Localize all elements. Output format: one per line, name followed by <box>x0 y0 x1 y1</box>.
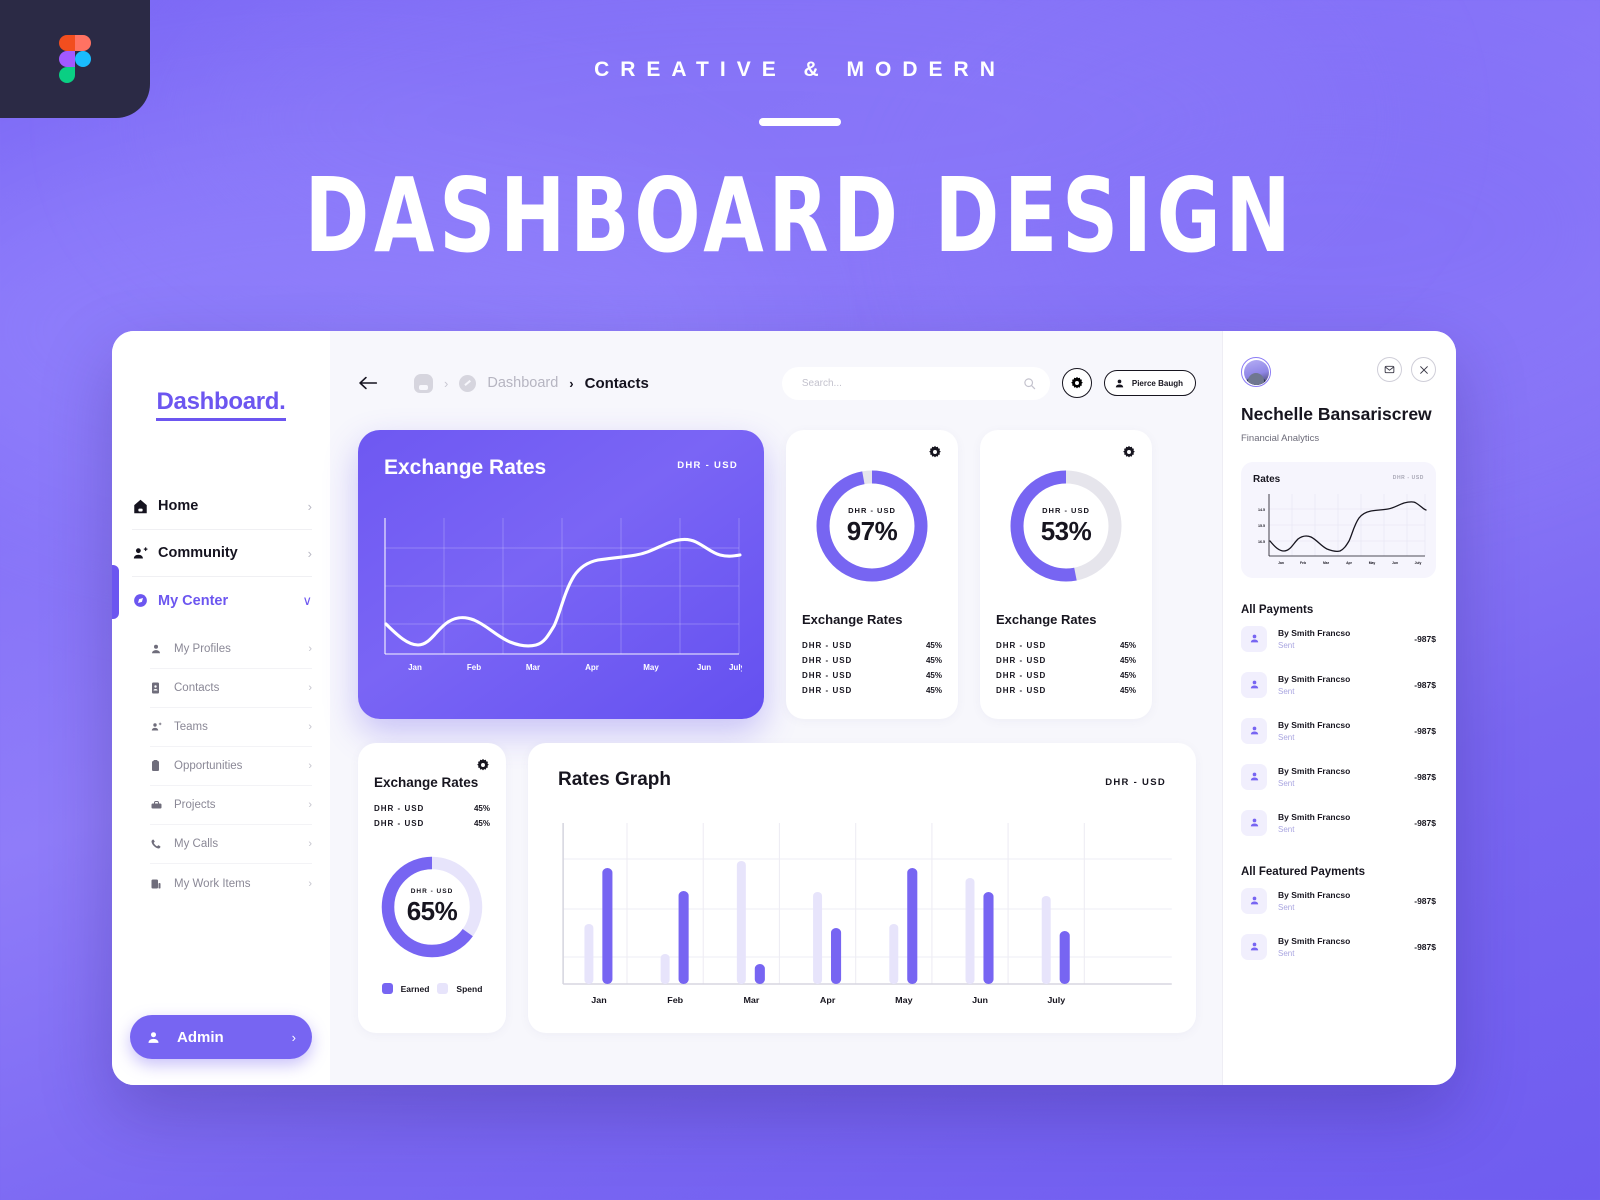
right-panel: Nechelle Bansariscrew Financial Analytic… <box>1222 331 1456 1085</box>
svg-text:Jun: Jun <box>697 663 711 672</box>
payment-status: Sent <box>1278 903 1350 912</box>
payment-row[interactable]: By Smith Francso Sent -987$ <box>1241 662 1436 708</box>
person-icon <box>1241 626 1267 652</box>
top-bar-actions: Pierce Baugh <box>782 367 1196 400</box>
dashboard-window: Dashboard. Home › Community › <box>112 331 1456 1085</box>
person-icon <box>1241 718 1267 744</box>
rate-value: 45% <box>474 819 490 828</box>
brand: Dashboard. <box>112 388 330 421</box>
payment-info: By Smith Francso Sent <box>1278 720 1350 742</box>
all-payments-title: All Payments <box>1241 604 1436 616</box>
payment-status: Sent <box>1278 779 1350 788</box>
mini-rates-card: Rates DHR - USD 14.515.516.5 <box>1241 462 1436 578</box>
legend-swatch-earned <box>382 983 393 994</box>
sidebar-sub-label: Opportunities <box>174 760 308 772</box>
breadcrumb-separator: › <box>569 376 573 391</box>
person-icon <box>146 1030 161 1045</box>
list-item: DHR - USD 45% <box>802 668 942 683</box>
currency-pair-label: DHR - USD <box>1393 475 1424 481</box>
list-item: DHR - USD 45% <box>802 683 942 698</box>
search-box[interactable] <box>782 367 1050 400</box>
list-item: DHR - USD 45% <box>802 653 942 668</box>
sidebar-item-label: Community <box>158 545 308 561</box>
panel-actions <box>1377 357 1436 382</box>
person-icon <box>150 643 174 655</box>
donut-value: 97% <box>847 516 898 547</box>
payment-info: By Smith Francso Sent <box>1278 766 1350 788</box>
currency-pair-label: DHR - USD <box>677 460 738 471</box>
sidebar-item-contacts[interactable]: Contacts › <box>150 669 312 708</box>
rate-key: DHR - USD <box>996 641 1046 650</box>
payment-status: Sent <box>1278 641 1350 650</box>
svg-text:Jan: Jan <box>408 663 422 672</box>
chevron-right-icon: › <box>308 682 312 694</box>
work-item-icon <box>150 878 174 890</box>
payment-row[interactable]: By Smith Francso Sent -987$ <box>1241 754 1436 800</box>
payment-amount: -987$ <box>1414 634 1436 644</box>
list-item: DHR - USD 45% <box>996 683 1136 698</box>
payment-info: By Smith Francso Sent <box>1278 674 1350 696</box>
settings-button[interactable] <box>1062 368 1092 398</box>
payment-info: By Smith Francso Sent <box>1278 812 1350 834</box>
svg-text:Jan: Jan <box>591 995 606 1004</box>
rate-key: DHR - USD <box>996 686 1046 695</box>
chevron-right-icon: › <box>308 546 312 561</box>
mail-button[interactable] <box>1377 357 1402 382</box>
payment-amount: -987$ <box>1414 772 1436 782</box>
briefcase-icon <box>150 799 174 811</box>
donut-value: 53% <box>1041 516 1092 547</box>
svg-text:Apr: Apr <box>1346 561 1353 565</box>
chevron-right-icon: › <box>308 499 312 514</box>
svg-text:July: July <box>729 663 742 672</box>
rate-key: DHR - USD <box>802 671 852 680</box>
featured-payment-row[interactable]: By Smith Francso Sent -987$ <box>1241 878 1436 924</box>
donut-center-97: DHR - USD 97% <box>812 466 932 586</box>
user-chip[interactable]: Pierce Baugh <box>1104 370 1196 396</box>
list-item: DHR - USD 45% <box>996 668 1136 683</box>
payment-row[interactable]: By Smith Francso Sent -987$ <box>1241 800 1436 846</box>
donut-center-53: DHR - USD 53% <box>1006 466 1126 586</box>
svg-text:Jun: Jun <box>1392 561 1398 565</box>
svg-text:Feb: Feb <box>1300 561 1306 565</box>
close-button[interactable] <box>1411 357 1436 382</box>
svg-text:May: May <box>1369 561 1376 565</box>
sidebar: Dashboard. Home › Community › <box>112 331 330 1085</box>
cards-row-2: Exchange Rates DHR - USD 45% DHR - USD 4… <box>358 743 1196 1033</box>
rate-value: 45% <box>1120 641 1136 650</box>
sidebar-sub-label: Projects <box>174 799 308 811</box>
payment-by: By Smith Francso <box>1278 766 1350 776</box>
svg-text:15.5: 15.5 <box>1258 524 1265 528</box>
svg-text:Jan: Jan <box>1278 561 1284 565</box>
gear-icon[interactable] <box>476 758 490 777</box>
nav-primary: Home › Community › My Center ∨ <box>112 483 330 624</box>
payment-row[interactable]: By Smith Francso Sent -987$ <box>1241 708 1436 754</box>
payment-amount: -987$ <box>1414 818 1436 828</box>
profile-role: Financial Analytics <box>1241 433 1436 444</box>
donut-center-65: DHR - USD 65% <box>378 853 486 961</box>
payment-info: By Smith Francso Sent <box>1278 936 1350 958</box>
payment-amount: -987$ <box>1414 726 1436 736</box>
home-icon <box>132 498 158 515</box>
figma-badge <box>0 0 150 118</box>
list-item: DHR - USD 45% <box>996 653 1136 668</box>
brand-title: Dashboard. <box>156 388 285 421</box>
compass-icon <box>132 592 158 609</box>
people-icon <box>132 545 158 562</box>
breadcrumb-dashboard[interactable]: Dashboard <box>487 375 558 391</box>
rate-key: DHR - USD <box>996 656 1046 665</box>
rate-key: DHR - USD <box>374 804 424 813</box>
rate-list: DHR - USD 45% DHR - USD 45% DHR - USD 45… <box>802 638 942 698</box>
legend-label: Spend <box>456 984 482 994</box>
donut-chart-97: DHR - USD 97% <box>812 466 932 586</box>
exchange-rates-line-card: Exchange Rates DHR - USD <box>358 430 764 719</box>
svg-text:July: July <box>1415 561 1422 565</box>
svg-text:Feb: Feb <box>667 995 683 1004</box>
compass-icon[interactable] <box>459 375 476 392</box>
featured-payment-row[interactable]: By Smith Francso Sent -987$ <box>1241 924 1436 970</box>
rate-value: 45% <box>474 804 490 813</box>
donut-chart-65: DHR - USD 65% <box>378 853 486 961</box>
donut-value: 65% <box>407 896 458 927</box>
rate-list: DHR - USD 45% DHR - USD 45% <box>374 801 490 831</box>
card-title: Exchange Rates <box>996 612 1136 627</box>
list-item: DHR - USD 45% <box>996 638 1136 653</box>
main-content: › Dashboard › Contacts <box>330 331 1222 1085</box>
legend-swatch-spend <box>437 983 448 994</box>
rate-value: 45% <box>926 671 942 680</box>
exchange-rates-donut-card: Exchange Rates DHR - USD 45% DHR - USD 4… <box>358 743 506 1033</box>
nav-sub-items: My Profiles › Contacts › Teams › <box>112 630 330 903</box>
list-item: DHR - USD 45% <box>802 638 942 653</box>
svg-text:Feb: Feb <box>467 663 481 672</box>
svg-text:16.5: 16.5 <box>1258 540 1265 544</box>
sidebar-item-label: My Center <box>158 593 302 609</box>
donut-card-53: DHR - USD 53% Exchange Rates DHR - USD 4… <box>980 430 1152 719</box>
svg-text:May: May <box>643 663 659 672</box>
chart-legend: Earned Spend <box>374 983 490 994</box>
payment-info: By Smith Francso Sent <box>1278 628 1350 650</box>
donut-card-97: DHR - USD 97% Exchange Rates DHR - USD 4… <box>786 430 958 719</box>
person-icon <box>1241 888 1267 914</box>
sidebar-item-my-work-items[interactable]: My Work Items › <box>150 864 312 903</box>
payment-status: Sent <box>1278 949 1350 958</box>
person-icon <box>1241 672 1267 698</box>
svg-text:Mar: Mar <box>526 663 540 672</box>
chevron-right-icon: › <box>292 1030 296 1045</box>
person-icon <box>1241 764 1267 790</box>
user-chip-name: Pierce Baugh <box>1132 379 1183 388</box>
payment-by: By Smith Francso <box>1278 674 1350 684</box>
rate-value: 45% <box>926 686 942 695</box>
sidebar-sub-label: Teams <box>174 721 308 733</box>
payment-info: By Smith Francso Sent <box>1278 890 1350 912</box>
card-title: Rates Graph <box>558 769 1170 791</box>
sidebar-sub-label: My Profiles <box>174 643 308 655</box>
svg-text:July: July <box>1047 995 1065 1004</box>
active-indicator <box>112 565 119 619</box>
card-title: Exchange Rates <box>802 612 942 627</box>
legend-label: Earned <box>401 984 430 994</box>
top-bar: › Dashboard › Contacts <box>358 361 1196 405</box>
rate-list: DHR - USD 45% DHR - USD 45% DHR - USD 45… <box>996 638 1136 698</box>
currency-pair-label: DHR - USD <box>1105 777 1166 788</box>
sidebar-sub-label: My Work Items <box>174 878 308 890</box>
profile-header <box>1241 357 1436 387</box>
chevron-down-icon: ∨ <box>302 593 312 609</box>
rates-graph-card: Rates Graph DHR - USD <box>528 743 1196 1033</box>
rate-key: DHR - USD <box>374 819 424 828</box>
person-icon <box>1241 934 1267 960</box>
rate-key: DHR - USD <box>802 656 852 665</box>
svg-text:14.5: 14.5 <box>1258 508 1265 512</box>
rate-value: 45% <box>1120 656 1136 665</box>
rate-value: 45% <box>926 656 942 665</box>
rate-value: 45% <box>926 641 942 650</box>
sidebar-item-teams[interactable]: Teams › <box>150 708 312 747</box>
avatar[interactable] <box>1241 357 1271 387</box>
mail-icon <box>1384 364 1395 375</box>
close-icon <box>1419 365 1429 375</box>
payment-row[interactable]: By Smith Francso Sent -987$ <box>1241 616 1436 662</box>
payment-amount: -987$ <box>1414 680 1436 690</box>
svg-text:Jun: Jun <box>972 995 988 1004</box>
currency-pair-label: DHR - USD <box>848 506 896 515</box>
chevron-right-icon: › <box>308 838 312 850</box>
arrow-left-icon[interactable] <box>358 375 378 391</box>
chevron-right-icon: › <box>308 643 312 655</box>
sidebar-item-my-center[interactable]: My Center ∨ <box>132 577 312 624</box>
svg-text:Apr: Apr <box>820 995 836 1004</box>
hero-divider <box>759 118 841 126</box>
admin-button[interactable]: Admin › <box>130 1015 312 1059</box>
payment-by: By Smith Francso <box>1278 628 1350 638</box>
payment-by: By Smith Francso <box>1278 812 1350 822</box>
svg-text:May: May <box>895 995 913 1004</box>
gear-icon <box>1070 376 1084 390</box>
admin-label: Admin <box>177 1029 292 1046</box>
sidebar-item-home[interactable]: Home › <box>132 483 312 530</box>
gear-icon[interactable] <box>1122 445 1136 464</box>
payment-amount: -987$ <box>1414 896 1436 906</box>
cards-row-1: Exchange Rates DHR - USD <box>358 430 1196 719</box>
payment-status: Sent <box>1278 687 1350 696</box>
list-item: DHR - USD 45% <box>374 816 490 831</box>
chevron-right-icon: › <box>308 721 312 733</box>
phone-icon <box>150 838 174 850</box>
payment-by: By Smith Francso <box>1278 936 1350 946</box>
svg-text:Mar: Mar <box>743 995 760 1004</box>
chevron-right-icon: › <box>308 878 312 890</box>
rate-key: DHR - USD <box>802 641 852 650</box>
featured-payments-title: All Featured Payments <box>1241 866 1436 878</box>
currency-pair-label: DHR - USD <box>411 888 454 895</box>
list-item: DHR - USD 45% <box>374 801 490 816</box>
team-icon <box>150 721 174 733</box>
svg-text:Apr: Apr <box>585 663 599 672</box>
breadcrumb-current: Contacts <box>585 375 649 392</box>
sidebar-item-my-calls[interactable]: My Calls › <box>150 825 312 864</box>
person-icon <box>1241 810 1267 836</box>
figma-logo-icon <box>59 35 91 83</box>
home-icon[interactable] <box>414 374 433 393</box>
donut-chart-53: DHR - USD 53% <box>1006 466 1126 586</box>
hero-section: CREATIVE & MODERN DASHBOARD DESIGN <box>0 0 1600 254</box>
sidebar-item-label: Home <box>158 498 308 514</box>
chevron-right-icon: › <box>308 799 312 811</box>
rate-value: 45% <box>1120 686 1136 695</box>
hero-kicker: CREATIVE & MODERN <box>0 58 1600 82</box>
payment-by: By Smith Francso <box>1278 890 1350 900</box>
exchange-rates-line-chart: 14.5 15.5 16.5 JanFebMar AprMayJun July <box>384 518 742 678</box>
breadcrumb: › Dashboard › Contacts <box>414 374 649 393</box>
payment-amount: -987$ <box>1414 942 1436 952</box>
gear-icon[interactable] <box>928 445 942 464</box>
payment-status: Sent <box>1278 733 1350 742</box>
rate-value: 45% <box>1120 671 1136 680</box>
sidebar-item-my-profiles[interactable]: My Profiles › <box>150 630 312 669</box>
hero-title: DASHBOARD DESIGN <box>56 156 1544 276</box>
svg-text:Mar: Mar <box>1323 561 1330 565</box>
sidebar-item-opportunities[interactable]: Opportunities › <box>150 747 312 786</box>
card-title: Exchange Rates <box>374 775 490 790</box>
contact-card-icon <box>150 682 174 694</box>
currency-pair-label: DHR - USD <box>1042 506 1090 515</box>
payment-status: Sent <box>1278 825 1350 834</box>
sidebar-item-projects[interactable]: Projects › <box>150 786 312 825</box>
person-icon <box>1114 378 1125 389</box>
clipboard-icon <box>150 760 174 772</box>
rate-key: DHR - USD <box>996 671 1046 680</box>
sidebar-item-community[interactable]: Community › <box>132 530 312 577</box>
search-icon[interactable] <box>1023 377 1036 390</box>
profile-name: Nechelle Bansariscrew <box>1241 405 1436 425</box>
sidebar-sub-label: My Calls <box>174 838 308 850</box>
mini-rates-line-chart: 14.515.516.5 JanFebMar AprMayJun July <box>1251 492 1427 570</box>
rate-key: DHR - USD <box>802 686 852 695</box>
payment-by: By Smith Francso <box>1278 720 1350 730</box>
search-input[interactable] <box>802 378 1023 389</box>
breadcrumb-separator: › <box>444 376 448 391</box>
chevron-right-icon: › <box>308 760 312 772</box>
rates-bar-chart: 14.515.516.5 <box>562 821 1174 1013</box>
sidebar-sub-label: Contacts <box>174 682 308 694</box>
